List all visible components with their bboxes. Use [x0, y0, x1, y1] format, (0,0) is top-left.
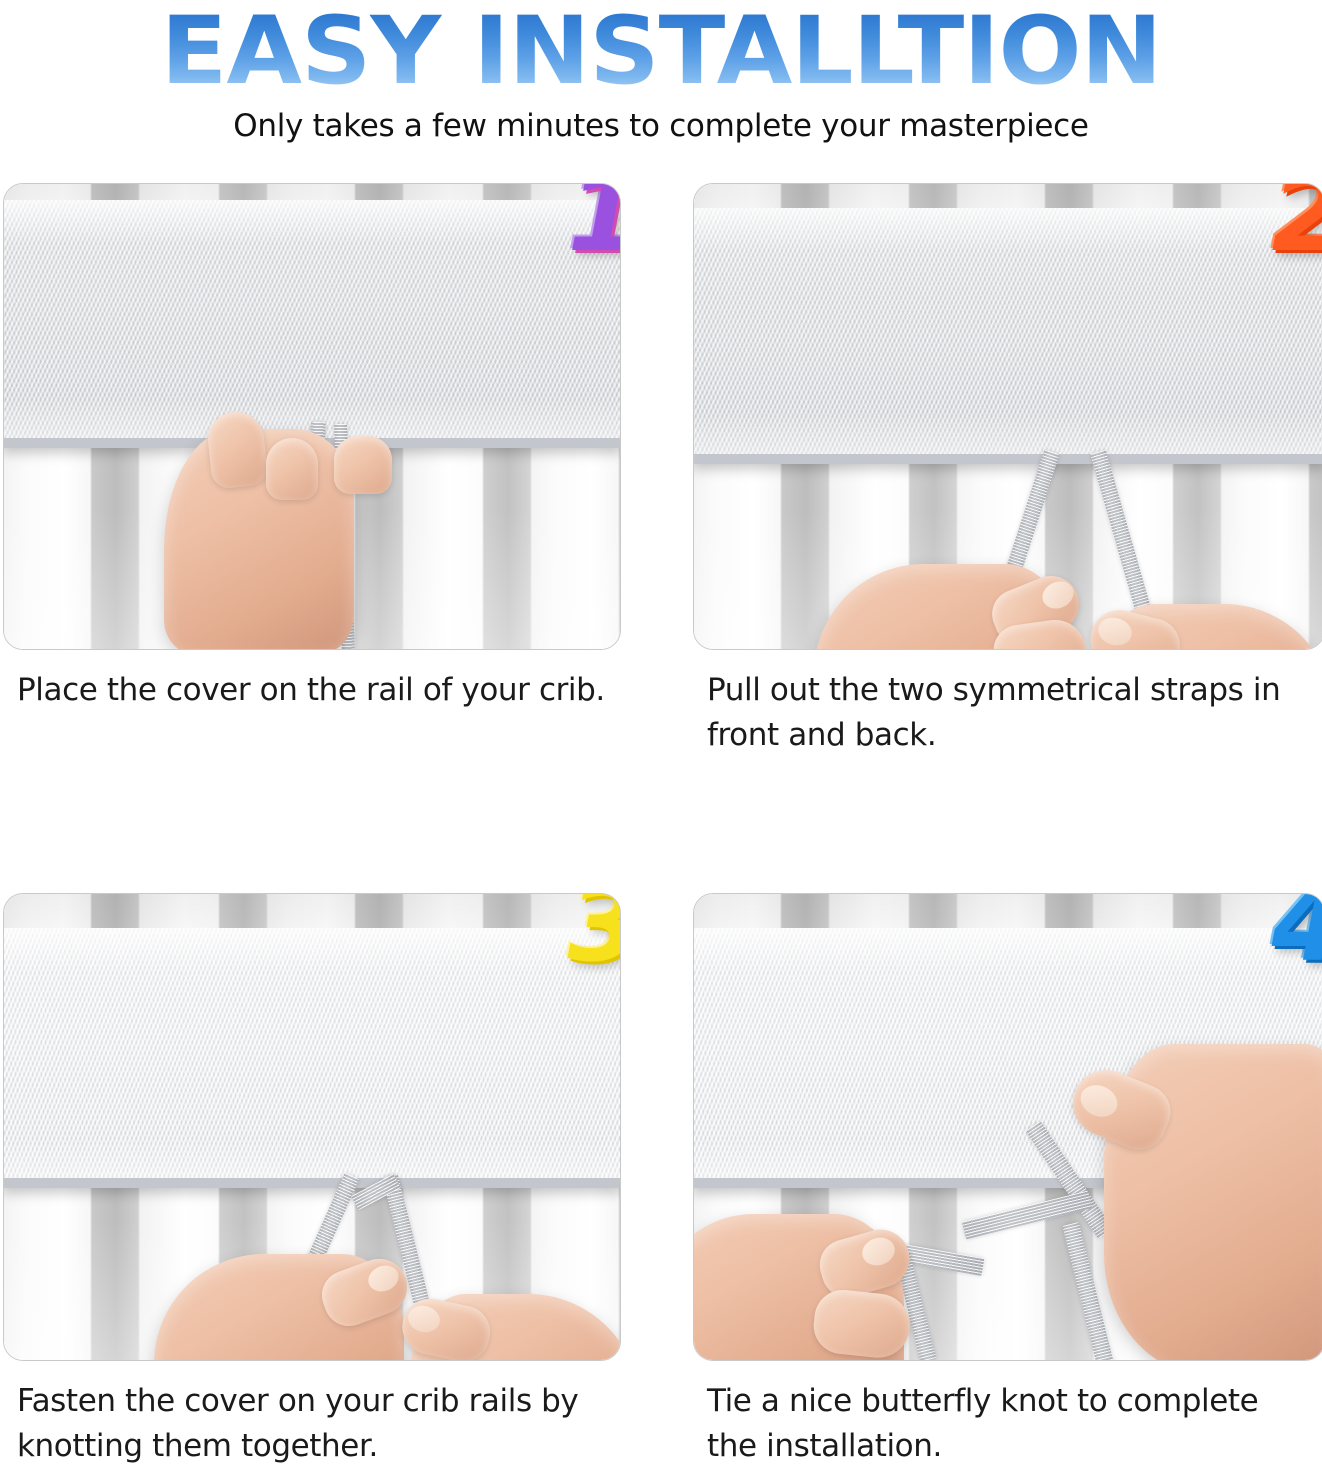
header-block: EASY INSTALLTION Only takes a few minute…: [0, 0, 1322, 144]
step-cell-3: 3 Fasten the cover on your crib rails by…: [3, 893, 621, 1469]
step-number-badge-3: 3: [568, 893, 621, 976]
step-number-badge-4: 4: [1272, 893, 1322, 976]
step-caption-3: Fasten the cover on your crib rails by k…: [17, 1379, 617, 1469]
page-title: EASY INSTALLTION: [0, 2, 1322, 102]
step-cell-1: 1 Place the cover on the rail of your cr…: [3, 183, 621, 758]
rail-cover-fabric: [693, 208, 1322, 464]
step-caption-4: Tie a nice butterfly knot to complete th…: [707, 1379, 1307, 1469]
page-subtitle: Only takes a few minutes to complete you…: [0, 108, 1322, 144]
installation-steps-grid: 1 Place the cover on the rail of your cr…: [0, 183, 1322, 1469]
step-photo-1: 1: [3, 183, 621, 650]
step-cell-2: 2 Pull out the two symmetrical straps in…: [693, 183, 1322, 758]
step-number-badge-1: 1: [568, 183, 621, 266]
step-caption-1: Place the cover on the rail of your crib…: [17, 668, 617, 713]
step-photo-4: 4: [693, 893, 1322, 1361]
step-cell-4: 4 Tie a nice butterfly knot to complete …: [693, 893, 1322, 1469]
middle-finger: [334, 436, 392, 494]
rail-cover-fabric: [3, 200, 621, 448]
index-finger: [266, 438, 318, 500]
step-photo-2: 2: [693, 183, 1322, 650]
rail-cover-fabric: [3, 928, 621, 1188]
step-photo-3: 3: [3, 893, 621, 1361]
step-number-badge-2: 2: [1272, 183, 1322, 266]
step-caption-2: Pull out the two symmetrical straps in f…: [707, 668, 1307, 758]
